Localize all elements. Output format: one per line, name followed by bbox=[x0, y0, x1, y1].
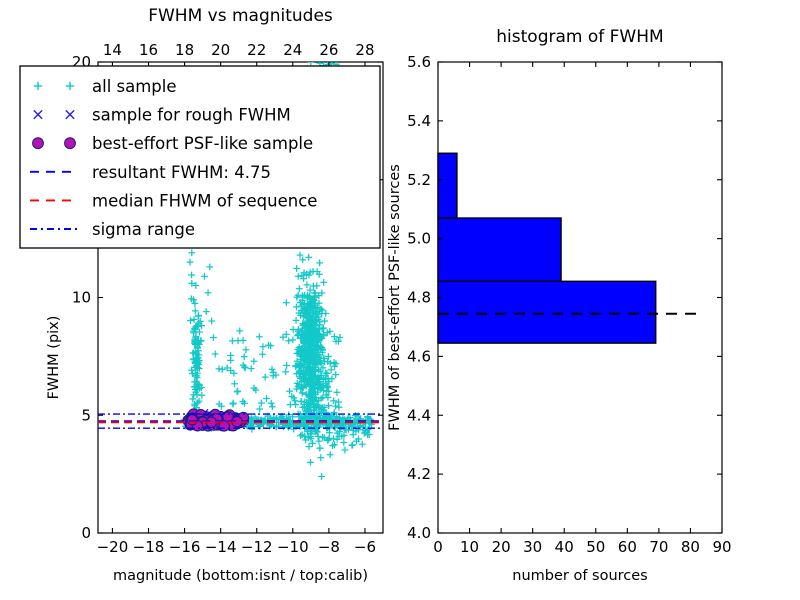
legend-entry-label: resultant FWHM: 4.75 bbox=[92, 163, 271, 182]
right-panel-axes: 01020304050607080904.04.24.44.64.85.05.2… bbox=[387, 27, 732, 584]
tick-label-right-panel-y: 5.4 bbox=[407, 112, 431, 130]
tick-label-right-panel-y: 4.2 bbox=[407, 465, 431, 483]
tick-label-bottom-x: −18 bbox=[133, 538, 165, 556]
legend-entry-label: all sample bbox=[92, 77, 177, 96]
left-plot-xlabel: magnitude (bottom:isnt / top:calib) bbox=[113, 568, 368, 584]
right-plot-xlabel: number of sources bbox=[512, 568, 648, 584]
tick-label-top-x: 16 bbox=[139, 41, 158, 59]
tick-label-right-panel-y: 5.2 bbox=[407, 171, 431, 189]
tick-label-right-panel-y: 4.6 bbox=[407, 347, 431, 365]
tick-label-right-panel-y: 5.6 bbox=[407, 53, 431, 71]
figure-canvas: −20−18−16−14−12−10−8−6141618202224262805… bbox=[0, 0, 800, 600]
tick-label-right-panel-x: 70 bbox=[649, 538, 668, 556]
tick-label-bottom-x: −8 bbox=[318, 538, 340, 556]
legend-marker-dot-icon bbox=[33, 138, 44, 149]
tick-label-right-panel-x: 80 bbox=[681, 538, 700, 556]
matplotlib-figure: −20−18−16−14−12−10−8−6141618202224262805… bbox=[0, 0, 800, 600]
tick-label-top-x: 28 bbox=[355, 41, 374, 59]
legend-entry-label: median FHWM of sequence bbox=[92, 191, 317, 210]
tick-label-right-panel-x: 50 bbox=[586, 538, 605, 556]
scatter-point-psf-like bbox=[187, 415, 197, 425]
tick-label-bottom-x: −20 bbox=[97, 538, 129, 556]
tick-label-right-panel-x: 0 bbox=[433, 538, 443, 556]
histogram-bar bbox=[438, 153, 457, 218]
tick-label-right-panel-y: 4.4 bbox=[407, 406, 431, 424]
tick-label-right-panel-x: 10 bbox=[460, 538, 479, 556]
tick-label-right-panel-x: 90 bbox=[712, 538, 731, 556]
legend-entry-label: sample for rough FWHM bbox=[92, 106, 291, 125]
tick-label-right-panel-x: 60 bbox=[618, 538, 637, 556]
right-plot-title: histogram of FWHM bbox=[496, 27, 663, 47]
tick-label-right-panel-x: 40 bbox=[555, 538, 574, 556]
tick-label-bottom-x: −12 bbox=[241, 538, 273, 556]
legend-frame bbox=[20, 66, 380, 248]
tick-label-left-y: 10 bbox=[72, 289, 91, 307]
tick-label-top-x: 22 bbox=[247, 41, 266, 59]
legend-box: all samplesample for rough FWHMbest-effo… bbox=[20, 66, 380, 248]
tick-label-bottom-x: −16 bbox=[169, 538, 201, 556]
tick-label-top-x: 18 bbox=[175, 41, 194, 59]
right-plot-ylabel: FWHM of best-effort PSF-like sources bbox=[387, 164, 403, 431]
tick-label-left-y: 5 bbox=[81, 406, 91, 424]
tick-label-top-x: 20 bbox=[211, 41, 230, 59]
tick-label-bottom-x: −6 bbox=[354, 538, 376, 556]
legend-entry-label: sigma range bbox=[92, 220, 195, 239]
tick-label-bottom-x: −14 bbox=[205, 538, 237, 556]
left-plot-ylabel: FWHM (pix) bbox=[46, 316, 62, 400]
legend-marker-dot-icon bbox=[65, 138, 76, 149]
tick-label-top-x: 24 bbox=[283, 41, 302, 59]
histogram-bar bbox=[438, 218, 561, 281]
tick-label-top-x: 26 bbox=[319, 41, 338, 59]
tick-label-left-y: 0 bbox=[81, 524, 91, 542]
left-plot-title: FWHM vs magnitudes bbox=[148, 6, 333, 26]
tick-label-right-panel-y: 4.0 bbox=[407, 524, 431, 542]
tick-label-top-x: 14 bbox=[103, 41, 122, 59]
tick-label-right-panel-y: 5.0 bbox=[407, 230, 431, 248]
tick-label-right-panel-x: 20 bbox=[492, 538, 511, 556]
histogram-bar bbox=[438, 281, 656, 343]
tick-label-right-panel-x: 30 bbox=[523, 538, 542, 556]
legend-entry-label: best-effort PSF-like sample bbox=[92, 134, 313, 153]
tick-label-right-panel-y: 4.8 bbox=[407, 289, 431, 307]
tick-label-bottom-x: −10 bbox=[277, 538, 309, 556]
